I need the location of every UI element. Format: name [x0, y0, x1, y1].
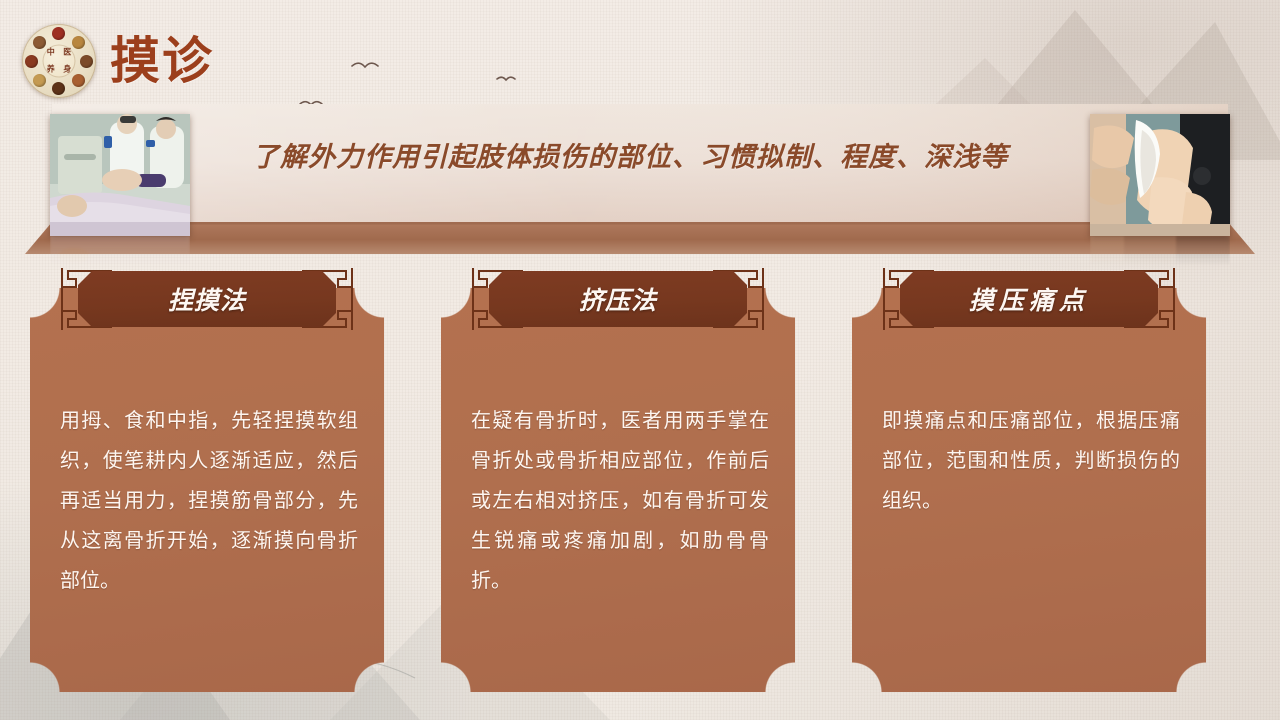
method-card-3[interactable]: 即摸痛点和压痛部位，根据压痛部位，范围和性质，判断损伤的组织。	[852, 288, 1206, 692]
emblem-char-2: 医	[63, 49, 71, 57]
banner-photo-left	[50, 114, 190, 236]
card-body-text: 用拇、食和中指，先轻捏摸软组织，使笔耕内人逐渐适应，然后再适当用力，捏摸筋骨部分…	[60, 400, 358, 600]
method-cards: 用拇、食和中指，先轻捏摸软组织，使笔耕内人逐渐适应，然后再适当用力，捏摸筋骨部分…	[0, 262, 1280, 692]
card-body-text: 在疑有骨折时，医者用两手掌在骨折处或骨折相应部位，作前后或左右相对挤压，如有骨折…	[471, 400, 769, 600]
emblem-center: 中 医 养 身	[43, 45, 76, 78]
banner-shape	[0, 104, 1280, 254]
card-header: 捏摸法	[52, 266, 362, 332]
emblem-char-4: 身	[63, 65, 71, 73]
banner-ribbon: 了解外力作用引起肢体损伤的部位、习惯拟制、程度、深浅等	[0, 104, 1280, 254]
card-title-badge: 捏摸法	[78, 271, 336, 327]
banner-subtitle: 了解外力作用引起肢体损伤的部位、习惯拟制、程度、深浅等	[190, 138, 1070, 178]
method-card-2[interactable]: 在疑有骨折时，医者用两手掌在骨折处或骨折相应部位，作前后或左右相对挤压，如有骨折…	[441, 288, 795, 692]
emblem-char-1: 中	[47, 49, 55, 57]
card-title-badge: 摸压痛点	[900, 271, 1158, 327]
slide-root: 中 医 养 身 摸诊	[0, 0, 1280, 720]
slide-title-row: 中 医 养 身 摸诊	[22, 24, 214, 98]
card-header: 挤压法	[463, 266, 773, 332]
card-header: 摸压痛点	[874, 266, 1184, 332]
card-title: 捏摸法	[168, 281, 246, 317]
card-title: 摸压痛点	[969, 281, 1089, 317]
card-title: 挤压法	[579, 281, 657, 317]
method-card-1[interactable]: 用拇、食和中指，先轻捏摸软组织，使笔耕内人逐渐适应，然后再适当用力，捏摸筋骨部分…	[30, 288, 384, 692]
tcm-emblem-icon: 中 医 养 身	[22, 24, 96, 98]
card-title-badge: 挤压法	[489, 271, 747, 327]
page-title: 摸诊	[110, 35, 214, 87]
card-body-text: 即摸痛点和压痛部位，根据压痛部位，范围和性质，判断损伤的组织。	[882, 400, 1180, 520]
banner-photo-right	[1090, 114, 1230, 236]
emblem-char-3: 养	[47, 65, 55, 73]
